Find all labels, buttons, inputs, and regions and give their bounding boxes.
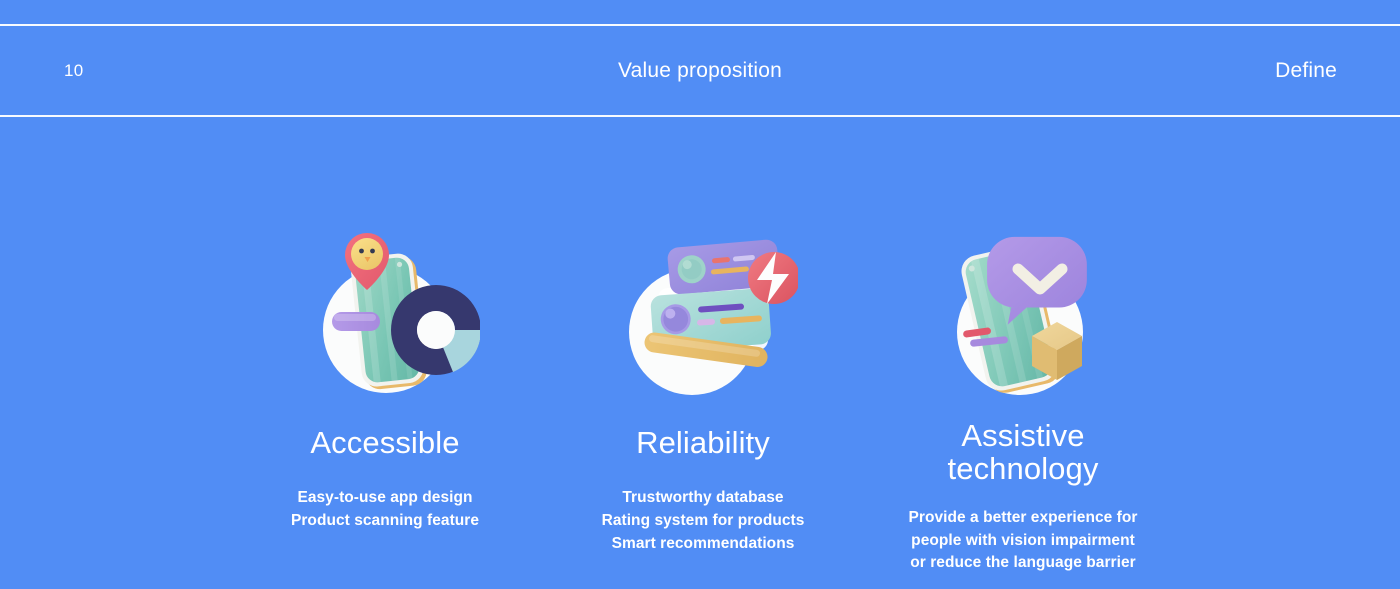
card-title: Reliability [636,426,770,459]
card-body: Easy-to-use app design Product scanning … [291,487,479,532]
reliability-illustration [608,222,798,412]
assistive-technology-illustration [928,222,1118,412]
header-divider-bottom [0,115,1400,117]
card-body-line: people with vision impairment [892,530,1154,553]
value-proposition-columns: Accessible Easy-to-use app design Produc… [0,118,1400,589]
value-card-assistive-technology: Assistive technology Provide a better ex… [850,118,1196,575]
phase-label: Define [1275,59,1337,83]
page-title: Value proposition [0,59,1400,83]
card-body-line: Provide a better experience for [892,507,1154,530]
card-body: Trustworthy database Rating system for p… [602,487,805,555]
card-body-line: Product scanning feature [291,510,479,533]
slide-header: 10 Value proposition Define [0,26,1400,115]
card-title: Assistive technology [908,419,1138,486]
accessible-illustration [290,222,480,412]
card-body: Provide a better experience for people w… [892,507,1154,575]
card-body-line: or reduce the language barrier [892,552,1154,575]
value-card-accessible: Accessible Easy-to-use app design Produc… [212,118,558,533]
card-body-line: Trustworthy database [602,487,805,510]
value-card-reliability: Reliability Trustworthy database Rating … [530,118,876,555]
card-body-line: Rating system for products [602,510,805,533]
card-body-line: Smart recommendations [602,533,805,556]
card-body-line: Easy-to-use app design [291,487,479,510]
card-title: Accessible [310,426,459,459]
